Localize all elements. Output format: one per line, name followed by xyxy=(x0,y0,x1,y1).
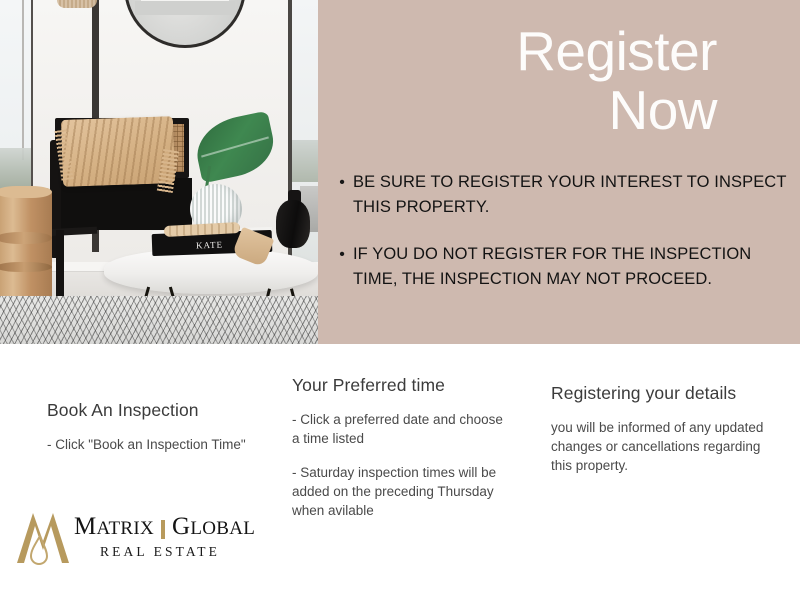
photo-stool-top xyxy=(0,186,52,198)
bullet-point-icon: • xyxy=(331,242,353,292)
interior-photo: KATE xyxy=(0,0,318,344)
matrix-monogram-icon xyxy=(14,506,72,566)
photo-patterned-rug xyxy=(0,296,318,344)
bullet-text: IF YOU DO NOT REGISTER FOR THE INSPECTIO… xyxy=(353,242,797,292)
logo-tagline: REAL ESTATE xyxy=(74,544,246,560)
column-heading: Book An Inspection xyxy=(47,399,262,421)
logo-wordmark: MATRIXGLOBAL REAL ESTATE xyxy=(74,513,255,560)
list-item: • BE SURE TO REGISTER YOUR INTEREST TO I… xyxy=(331,170,797,220)
photo-stool-notch-upper xyxy=(0,232,52,244)
column-paragraph: - Saturday inspection times will be adde… xyxy=(292,463,507,520)
photo-mirror-reflection-2 xyxy=(135,1,235,15)
column-book-an-inspection: Book An Inspection - Click "Book an Insp… xyxy=(47,399,262,454)
logo-global-rest: LOBAL xyxy=(190,518,255,539)
column-paragraph: - Click "Book an Inspection Time" xyxy=(47,435,262,454)
photo-bench-leg-left xyxy=(56,230,64,296)
photo-black-vase xyxy=(276,200,310,248)
column-heading: Your Preferred time xyxy=(292,374,507,396)
photo-marble-coffee-table xyxy=(104,248,318,294)
hero-banner: KATE Register Now • BE SURE TO REGISTER … xyxy=(0,0,800,344)
column-registering-your-details: Registering your details you will be inf… xyxy=(551,382,766,475)
photo-city-view-right xyxy=(292,140,318,182)
photo-book-title: KATE xyxy=(196,240,223,251)
page-title-line-2: Now xyxy=(337,81,717,140)
logo-brand-name: MATRIXGLOBAL xyxy=(74,513,255,543)
page-title: Register Now xyxy=(337,22,717,140)
column-heading: Registering your details xyxy=(551,382,766,404)
column-paragraph: you will be informed of any updated chan… xyxy=(551,418,766,475)
matrix-global-logo: MATRIXGLOBAL REAL ESTATE xyxy=(14,506,244,568)
column-your-preferred-time: Your Preferred time - Click a preferred … xyxy=(292,374,507,520)
register-panel: Register Now • BE SURE TO REGISTER YOUR … xyxy=(318,0,800,344)
logo-global-cap: G xyxy=(172,513,190,540)
bullet-point-icon: • xyxy=(331,170,353,220)
instructions-section: Book An Inspection - Click "Book an Insp… xyxy=(0,344,800,600)
logo-matrix-cap: M xyxy=(74,513,97,540)
photo-stool-notch-lower xyxy=(0,262,52,272)
bullet-text: BE SURE TO REGISTER YOUR INTEREST TO INS… xyxy=(353,170,797,220)
photo-pendant-lamp xyxy=(57,0,97,8)
page-title-line-1: Register xyxy=(337,22,717,81)
list-item: • IF YOU DO NOT REGISTER FOR THE INSPECT… xyxy=(331,242,797,292)
logo-matrix-rest: ATRIX xyxy=(97,518,154,539)
photo-window-mullion xyxy=(22,0,24,160)
column-paragraph: - Click a preferred date and choose a ti… xyxy=(292,410,507,448)
notice-bullet-list: • BE SURE TO REGISTER YOUR INTEREST TO I… xyxy=(331,170,797,314)
logo-divider-icon xyxy=(161,520,165,539)
